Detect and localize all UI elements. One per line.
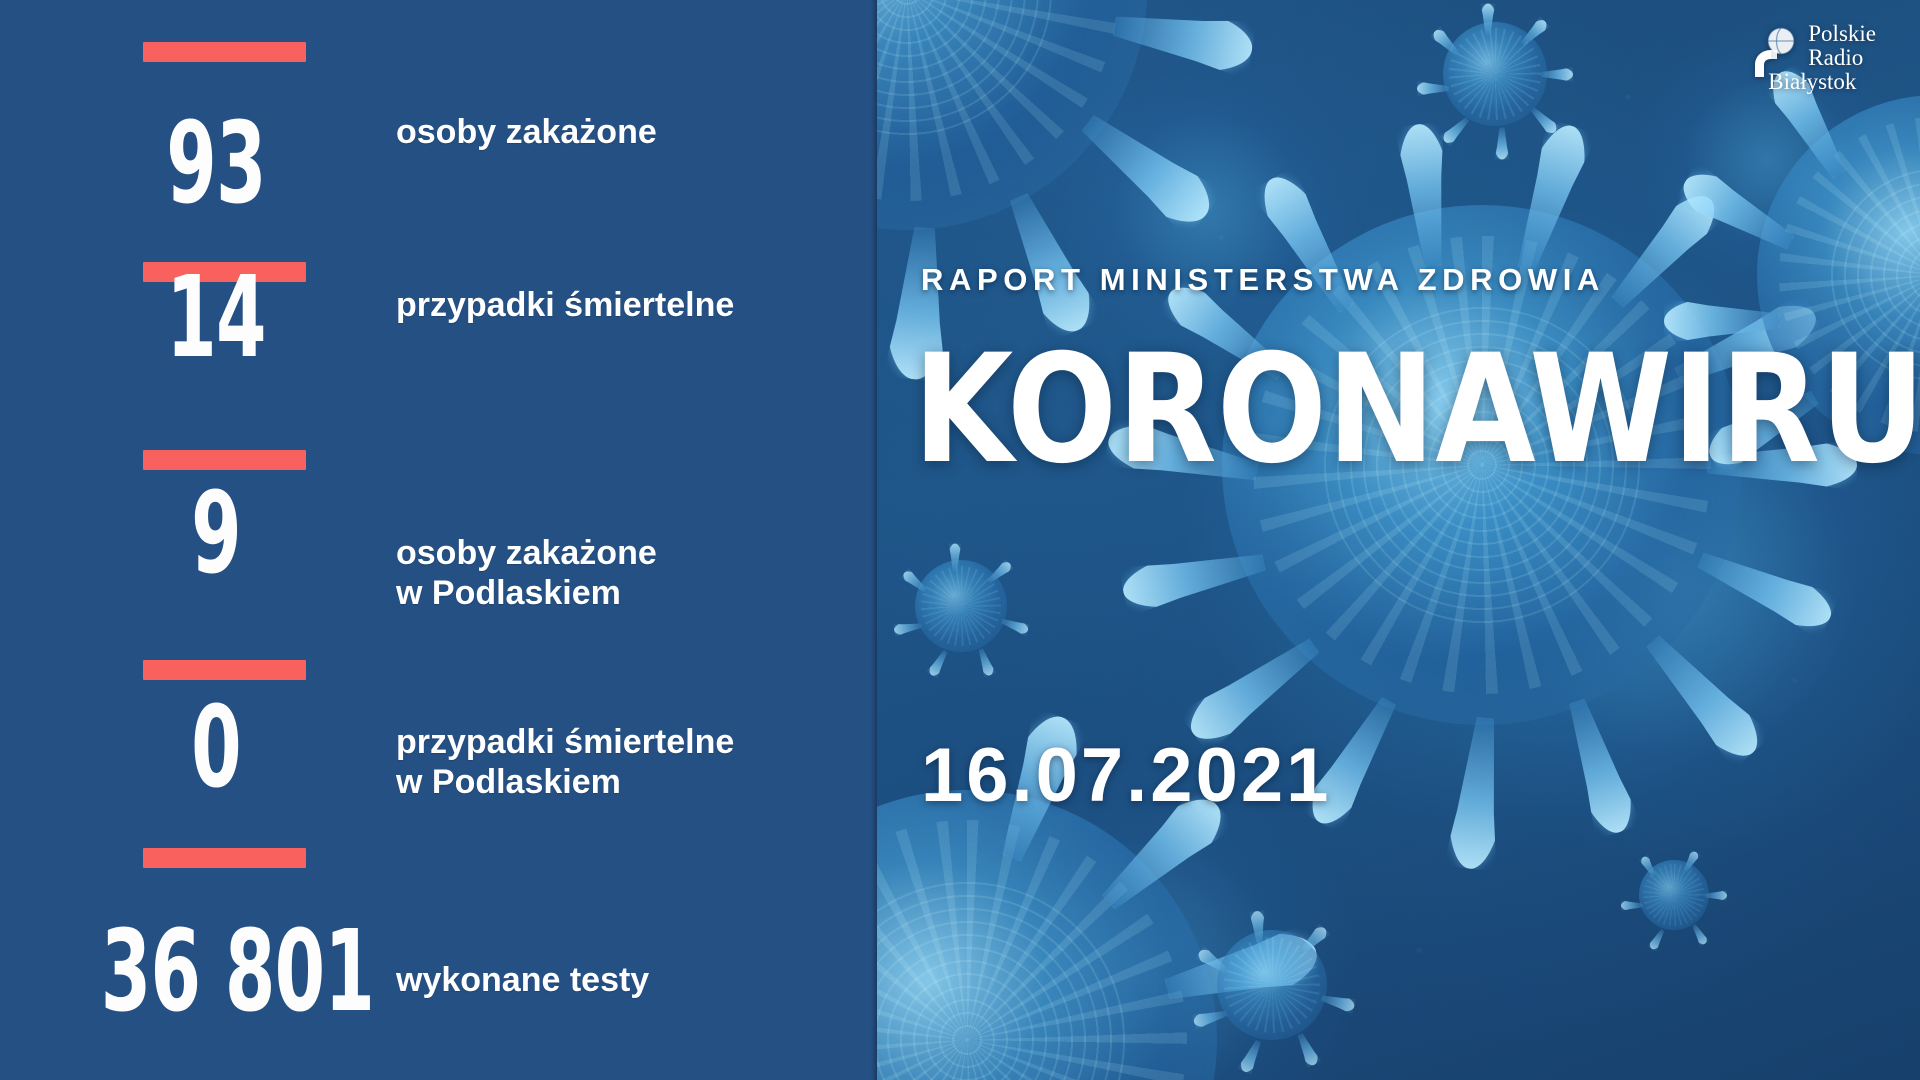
infographic-canvas: RAPORT MINISTERSTWA ZDROWIA KORONAWIRUS … — [0, 0, 1920, 1080]
stat-value: 9 — [130, 478, 303, 590]
stat-divider-bar — [143, 450, 306, 470]
report-date: 16.07.2021 — [921, 732, 1331, 819]
stat-divider-bar — [143, 42, 306, 62]
virion-small-d — [1217, 930, 1327, 1040]
logo-line-3: Białystok — [1768, 70, 1876, 94]
stat-value: 0 — [130, 692, 303, 804]
virion-small-c — [1639, 860, 1709, 930]
virion-small-b — [915, 560, 1007, 652]
stat-divider-bar — [143, 848, 306, 868]
stat-label: przypadki śmiertelne — [396, 285, 734, 325]
stat-value: 36 801 — [101, 916, 331, 1028]
stat-value: 93 — [130, 108, 303, 220]
polskie-radio-bialystok-logo[interactable]: Polskie Radio Białystok — [1751, 22, 1876, 94]
report-eyebrow: RAPORT MINISTERSTWA ZDROWIA — [921, 262, 1605, 298]
statistics-panel: 93osoby zakażone14przypadki śmiertelne9o… — [0, 0, 877, 1080]
stat-label: wykonane testy — [396, 960, 649, 1000]
logo-line-1: Polskie — [1808, 22, 1876, 46]
virion-small-a — [1443, 22, 1547, 126]
stat-divider-bar — [143, 660, 306, 680]
logo-wordmark: Polskie Radio Białystok — [1808, 22, 1876, 94]
page-title: KORONAWIRUS — [913, 338, 1920, 482]
virus-illustration — [877, 0, 1920, 1080]
virion-bottom-left — [877, 790, 1217, 1080]
logo-line-2: Radio — [1808, 46, 1876, 70]
statistics-list: 93osoby zakażone14przypadki śmiertelne9o… — [0, 0, 877, 1080]
stat-label: przypadki śmiertelne w Podlaskiem — [396, 722, 734, 802]
stat-label: osoby zakażone w Podlaskiem — [396, 533, 657, 613]
stat-label: osoby zakażone — [396, 112, 657, 152]
stat-value: 14 — [130, 262, 303, 374]
coronavirus-artwork-panel: RAPORT MINISTERSTWA ZDROWIA KORONAWIRUS … — [877, 0, 1920, 1080]
